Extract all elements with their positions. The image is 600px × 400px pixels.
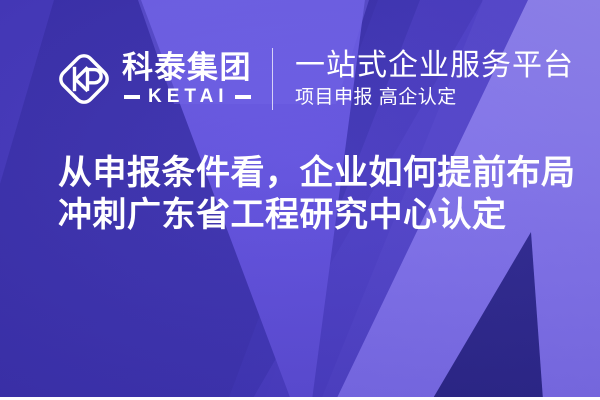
promo-banner: 科泰集团 KETAI 一站式企业服务平台 项目申报 高企认定 从申报条件看，企业… <box>0 0 600 400</box>
headline-line-2: 冲刺广东省工程研究中心认定 <box>58 194 568 236</box>
dash-left-icon <box>124 95 140 99</box>
brand-name-en-row: KETAI <box>122 87 252 106</box>
dash-right-icon <box>235 95 251 99</box>
brand-name-cn: 科泰集团 <box>122 52 252 84</box>
tagline-secondary: 项目申报 高企认定 <box>295 87 574 109</box>
headline-block: 从申报条件看，企业如何提前布局 冲刺广东省工程研究中心认定 <box>58 152 568 236</box>
brand-text-block: 科泰集团 KETAI <box>122 52 252 107</box>
headline-line-1: 从申报条件看，企业如何提前布局 <box>58 152 568 194</box>
brand-name-en: KETAI <box>148 87 229 106</box>
tagline-primary: 一站式企业服务平台 <box>295 49 574 82</box>
brand-lockup: 科泰集团 KETAI <box>56 51 252 107</box>
banner-header: 科泰集团 KETAI 一站式企业服务平台 项目申报 高企认定 <box>56 42 574 116</box>
header-divider <box>272 48 273 110</box>
tagline-block: 一站式企业服务平台 项目申报 高企认定 <box>295 49 574 109</box>
ketai-diamond-kp-logo-icon <box>56 51 112 107</box>
